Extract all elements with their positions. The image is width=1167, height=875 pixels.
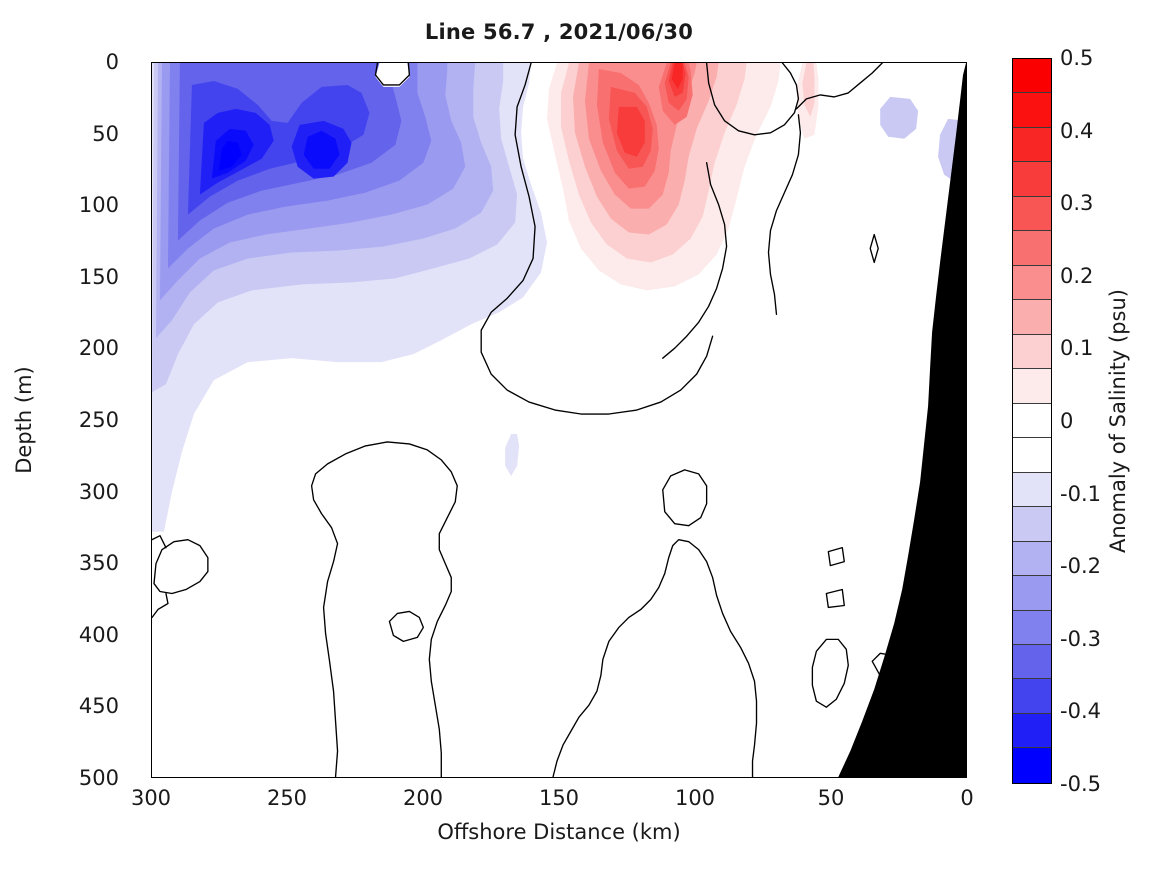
x-tick-0: 0 (960, 786, 973, 810)
y-tick-50: 50 (92, 122, 119, 146)
x-tick-300: 300 (131, 786, 171, 810)
x-tick-100: 100 (675, 786, 715, 810)
y-tick-350: 350 (79, 551, 119, 575)
colorbar-band-7 (1013, 300, 1051, 334)
colorbar-title: Anomaly of Salinity (psu) (1106, 289, 1130, 553)
cbar-tick-0.3: 0.3 (1060, 191, 1093, 215)
cbar-tick--0.2: -0.2 (1060, 554, 1101, 578)
colorbar-band-3 (1013, 162, 1051, 196)
colorbar-band-18 (1013, 679, 1051, 713)
contour-plot-area (151, 62, 967, 778)
y-tick-200: 200 (79, 336, 119, 360)
colorbar-band-14 (1013, 542, 1051, 576)
y-tick-0: 0 (106, 50, 119, 74)
colorbar-band-9 (1013, 369, 1051, 403)
cbar-tick--0.1: -0.1 (1060, 482, 1101, 506)
colorbar-band-5 (1013, 231, 1051, 265)
x-tick-200: 200 (403, 786, 443, 810)
y-tick-300: 300 (79, 480, 119, 504)
colorbar-band-11 (1013, 438, 1051, 472)
colorbar-band-10 (1013, 404, 1051, 438)
cbar-tick-0: 0 (1060, 409, 1073, 433)
colorbar-band-0 (1013, 59, 1051, 93)
colorbar-band-1 (1013, 93, 1051, 127)
colorbar-band-6 (1013, 266, 1051, 300)
y-tick-150: 150 (79, 265, 119, 289)
x-tick-150: 150 (539, 786, 579, 810)
y-axis-title: Depth (m) (12, 350, 36, 490)
cbar-tick-0.5: 0.5 (1060, 46, 1093, 70)
cbar-tick-0.2: 0.2 (1060, 264, 1093, 288)
y-tick-400: 400 (79, 623, 119, 647)
x-tick-250: 250 (267, 786, 307, 810)
colorbar-band-17 (1013, 645, 1051, 679)
y-tick-450: 450 (79, 694, 119, 718)
cbar-tick--0.5: -0.5 (1060, 772, 1101, 796)
colorbar-band-13 (1013, 507, 1051, 541)
cbar-tick--0.4: -0.4 (1060, 699, 1101, 723)
x-axis-title: Offshore Distance (km) (151, 820, 967, 844)
colorbar-band-2 (1013, 128, 1051, 162)
colorbar-band-20 (1013, 748, 1051, 782)
colorbar-band-16 (1013, 611, 1051, 645)
y-tick-500: 500 (79, 766, 119, 790)
y-tick-250: 250 (79, 408, 119, 432)
x-tick-50: 50 (818, 786, 845, 810)
colorbar-band-8 (1013, 335, 1051, 369)
y-tick-100: 100 (79, 193, 119, 217)
cbar-tick--0.3: -0.3 (1060, 627, 1101, 651)
salinity-anomaly-contour-field (152, 63, 966, 777)
page-title: Line 56.7 , 2021/06/30 (151, 20, 967, 44)
colorbar-band-15 (1013, 576, 1051, 610)
cbar-tick-0.4: 0.4 (1060, 119, 1093, 143)
colorbar-band-4 (1013, 197, 1051, 231)
cbar-tick-0.1: 0.1 (1060, 336, 1093, 360)
colorbar-band-12 (1013, 473, 1051, 507)
colorbar-band-19 (1013, 714, 1051, 748)
colorbar (1012, 58, 1052, 784)
